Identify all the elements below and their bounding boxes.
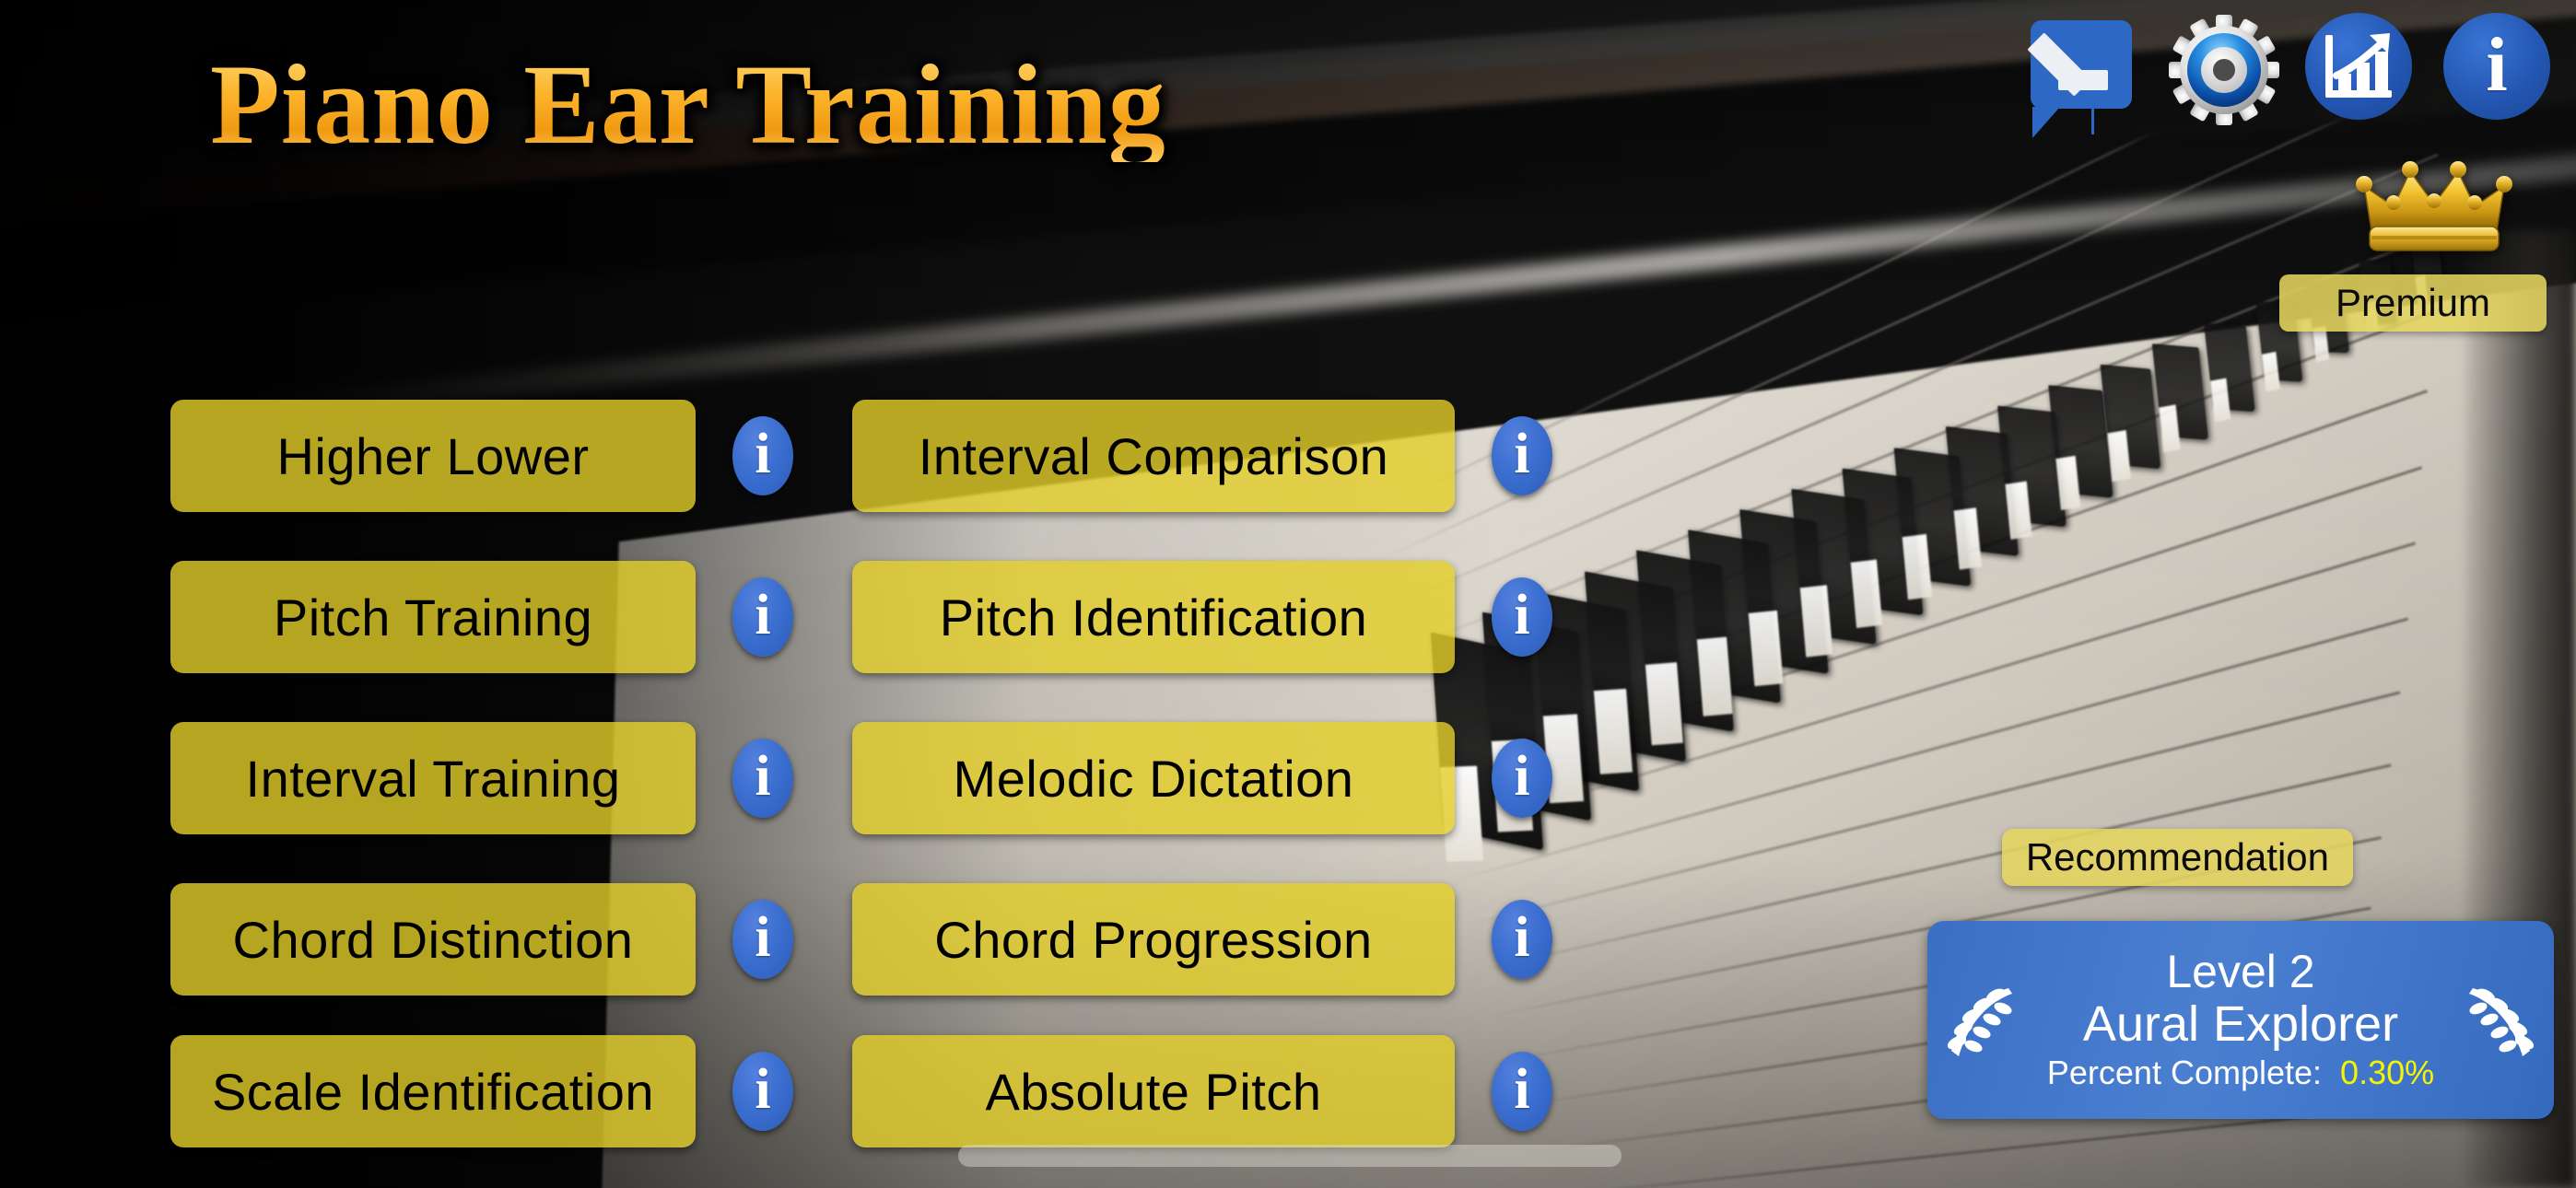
info-icon-glyph: i	[755, 909, 770, 970]
menu-button-higher-lower[interactable]: Higher Lower	[170, 400, 696, 512]
premium-label[interactable]: Premium	[2279, 274, 2547, 332]
menu-button-chord-progression[interactable]: Chord Progression	[852, 883, 1455, 996]
menu-button-pitch-identification[interactable]: Pitch Identification	[852, 561, 1455, 673]
menu-row-left-4: Scale Identificationi	[170, 1035, 793, 1147]
horizontal-scrollbar[interactable]	[958, 1145, 1622, 1167]
menu-button-label: Absolute Pitch	[986, 1062, 1322, 1122]
feedback-button[interactable]	[2023, 7, 2141, 125]
menu-button-label: Chord Progression	[934, 910, 1372, 970]
info-icon-scale-identification[interactable]: i	[732, 1052, 793, 1131]
info-icon-glyph: i	[1514, 425, 1529, 486]
menu-button-chord-distinction[interactable]: Chord Distinction	[170, 883, 696, 996]
level-card[interactable]: Level 2 Aural Explorer Percent Complete:…	[1927, 921, 2554, 1119]
menu-row-left-3: Chord Distinctioni	[170, 883, 793, 996]
info-icon-higher-lower[interactable]: i	[732, 416, 793, 495]
laurel-right-icon	[2462, 983, 2541, 1066]
level-card-content: Level 2 Aural Explorer Percent Complete:…	[1927, 921, 2554, 1119]
info-icon-glyph: i	[755, 748, 770, 809]
menu-button-label: Interval Training	[246, 749, 621, 809]
menu-row-right-0: Interval Comparisoni	[852, 400, 1552, 512]
info-icon-pitch-training[interactable]: i	[732, 577, 793, 657]
page-title: Piano Ear Training	[210, 48, 1166, 162]
info-icon-glyph: i	[1514, 909, 1529, 970]
info-icon-glyph: i	[755, 1061, 770, 1122]
menu-button-label: Higher Lower	[276, 426, 589, 486]
menu-row-left-1: Pitch Trainingi	[170, 561, 793, 673]
info-icon-absolute-pitch[interactable]: i	[1492, 1052, 1552, 1131]
speech-bubble-stem	[2091, 107, 2094, 134]
menu-button-label: Melodic Dictation	[954, 749, 1354, 809]
info-icon-chord-distinction[interactable]: i	[732, 900, 793, 979]
menu-row-left-0: Higher Loweri	[170, 400, 793, 512]
info-icon-glyph: i	[1514, 587, 1529, 647]
info-icon-glyph: i	[1514, 748, 1529, 809]
info-icon-pitch-identification[interactable]: i	[1492, 577, 1552, 657]
menu-row-right-4: Absolute Pitchi	[852, 1035, 1552, 1147]
menu-button-label: Scale Identification	[212, 1062, 654, 1122]
pencil-base-icon	[2058, 70, 2108, 90]
menu-row-left-2: Interval Trainingi	[170, 722, 793, 834]
menu-button-scale-identification[interactable]: Scale Identification	[170, 1035, 696, 1147]
info-icon-glyph: i	[755, 425, 770, 486]
percent-complete-value: 0.30%	[2340, 1054, 2434, 1091]
menu-row-right-3: Chord Progressioni	[852, 883, 1552, 996]
info-icon-glyph: i	[1514, 1061, 1529, 1122]
info-icon-melodic-dictation[interactable]: i	[1492, 739, 1552, 818]
info-icon-chord-progression[interactable]: i	[1492, 900, 1552, 979]
percent-complete-row: Percent Complete: 0.30%	[2047, 1053, 2434, 1092]
premium-badge[interactable]: Premium	[2279, 212, 2547, 332]
chart-icon	[2300, 7, 2418, 125]
statistics-button[interactable]	[2300, 7, 2418, 125]
info-icon-glyph: i	[755, 587, 770, 647]
speech-bubble-tail	[2032, 107, 2060, 138]
toolbar: i	[2023, 7, 2556, 125]
level-rank-name: Aural Explorer	[2083, 998, 2398, 1051]
info-button[interactable]: i	[2438, 7, 2556, 125]
menu-button-label: Chord Distinction	[233, 910, 634, 970]
settings-button[interactable]	[2161, 7, 2279, 125]
menu-button-label: Pitch Training	[274, 588, 592, 647]
info-icon-interval-training[interactable]: i	[732, 739, 793, 818]
level-number: Level 2	[2166, 948, 2314, 996]
recommendation-chip[interactable]: Recommendation	[2002, 829, 2353, 886]
menu-row-right-1: Pitch Identificationi	[852, 561, 1552, 673]
menu-button-label: Pitch Identification	[940, 588, 1367, 647]
info-icon-interval-comparison[interactable]: i	[1492, 416, 1552, 495]
app-root: Piano Ear Training	[0, 0, 2576, 1188]
menu-button-melodic-dictation[interactable]: Melodic Dictation	[852, 722, 1455, 834]
menu-button-interval-comparison[interactable]: Interval Comparison	[852, 400, 1455, 512]
menu-button-interval-training[interactable]: Interval Training	[170, 722, 696, 834]
menu-button-absolute-pitch[interactable]: Absolute Pitch	[852, 1035, 1455, 1147]
menu-row-right-2: Melodic Dictationi	[852, 722, 1552, 834]
info-glyph: i	[2438, 7, 2556, 125]
crown-icon	[2351, 158, 2517, 260]
menu-button-pitch-training[interactable]: Pitch Training	[170, 561, 696, 673]
menu-button-label: Interval Comparison	[919, 426, 1389, 486]
percent-complete-label: Percent Complete:	[2047, 1054, 2322, 1091]
gear-icon	[2167, 13, 2274, 120]
